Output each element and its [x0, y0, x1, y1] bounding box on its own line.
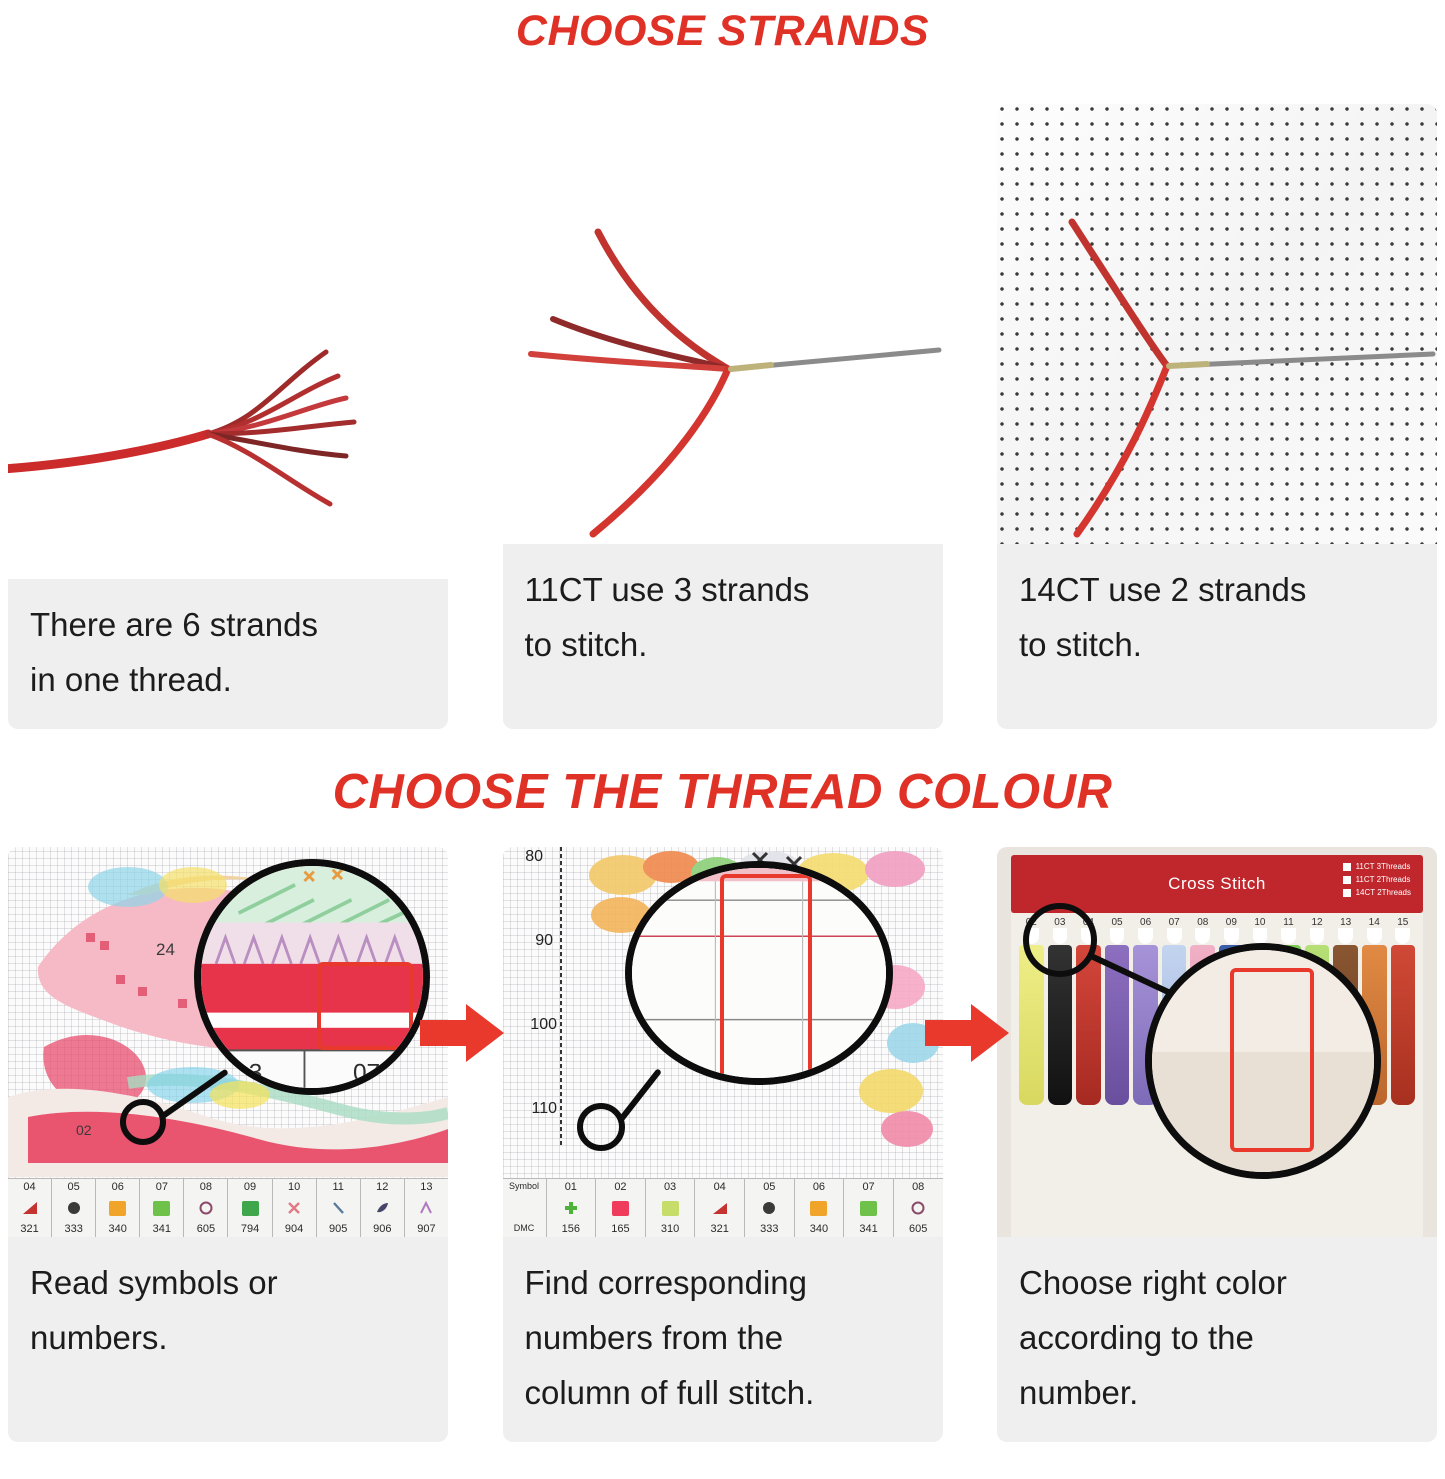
card-choose-color: Cross Stitch 11CT 3Threads 11CT 2Threads… — [997, 847, 1437, 1442]
y-axis-label-90: 90 — [535, 932, 553, 949]
skein-hole — [1138, 928, 1153, 944]
green-swatch-icon — [153, 1201, 170, 1216]
three-strands-needle-illustration — [503, 104, 943, 544]
skein-hole — [1224, 928, 1239, 944]
legend-dmc-cell: 341 — [844, 1221, 894, 1237]
legend-header-cell: 06 — [96, 1179, 140, 1195]
legend-dmc-cell: 310 — [646, 1221, 696, 1237]
caret-symbol-icon — [418, 1200, 434, 1216]
legend-dmc-cell: 165 — [596, 1221, 646, 1237]
legend-symbol-row — [503, 1195, 943, 1221]
pattern-bottom-label: 02 — [76, 1122, 92, 1138]
legend-dmc-cell: 321 — [695, 1221, 745, 1237]
legend-row-label: DMC — [503, 1221, 547, 1237]
skein-hole — [1110, 928, 1125, 944]
caption-six-strands: There are 6 strands in one thread. — [8, 579, 448, 729]
photo-plain-fabric-six-strands — [8, 104, 448, 579]
magnified-column-highlight — [720, 874, 812, 1085]
legend-dmc-cell: 333 — [52, 1221, 96, 1237]
y-axis-label-110: 110 — [531, 1100, 557, 1117]
legend-symbol-cell — [745, 1195, 795, 1221]
skein-number: 14 — [1360, 917, 1389, 928]
skein-hole — [1367, 928, 1382, 944]
checkbox-icon[interactable] — [1343, 876, 1351, 884]
skein-number: 15 — [1389, 917, 1418, 928]
legend-dmc-cell: 906 — [361, 1221, 405, 1237]
legend-header-cell: 08 — [184, 1179, 228, 1195]
legend-dmc-cell: 321 — [8, 1221, 52, 1237]
legend-header-cell: 05 — [745, 1179, 795, 1195]
caption-14ct-two-strands: 14CT use 2 strands to stitch. — [997, 544, 1437, 694]
legend-symbol-cell — [596, 1195, 646, 1221]
pack-checkbox-item[interactable]: 11CT 3Threads — [1343, 862, 1411, 871]
skein-number: 05 — [1103, 917, 1132, 928]
pack-title: Cross Stitch — [1168, 874, 1266, 894]
orange-swatch-icon — [810, 1201, 827, 1216]
legend-number-row: 321 333 340 341 605 794 904 905 906 907 — [8, 1221, 448, 1237]
dark-green-swatch-icon — [242, 1201, 259, 1216]
legend-dmc-cell: 904 — [273, 1221, 317, 1237]
orange-swatch-icon — [109, 1201, 126, 1216]
legend-symbol-cell — [646, 1195, 696, 1221]
two-strands-needle-illustration — [997, 104, 1437, 544]
skein-hole — [1195, 928, 1210, 944]
photo-floss-pack: Cross Stitch 11CT 3Threads 11CT 2Threads… — [997, 847, 1437, 1237]
photo-stitched-canvas: 24 02 — [8, 847, 448, 1237]
legend-symbol-cell — [52, 1195, 96, 1221]
skein-hole — [1310, 928, 1325, 944]
legend-symbol-cell — [273, 1195, 317, 1221]
legend-symbol-cell — [228, 1195, 272, 1221]
legend-header-cell: 03 — [646, 1179, 696, 1195]
y-axis-label-80: 80 — [525, 848, 543, 865]
legend-symbol-cell — [8, 1195, 52, 1221]
card-read-symbols: 24 02 — [8, 847, 448, 1442]
magnifier-lens-skeins: 01 02 03 — [1145, 943, 1381, 1179]
magnifier-lens-symbols: 3 07 — [194, 859, 430, 1095]
legend-symbol-cell — [894, 1195, 943, 1221]
skein-number: 11 — [1274, 917, 1303, 928]
magnifier-red-highlight — [317, 962, 413, 1050]
legend-dmc-cell: 333 — [745, 1221, 795, 1237]
cross-symbol-icon — [286, 1200, 302, 1216]
legend-header-cell: 07 — [140, 1179, 184, 1195]
skein-hole — [1167, 928, 1182, 944]
magnified-skein-highlight — [1230, 968, 1314, 1152]
legend-number-row: DMC 156 165 310 321 333 340 341 605 — [503, 1221, 943, 1237]
legend-symbol-cell — [140, 1195, 184, 1221]
magnifier-focus-circle — [120, 1099, 166, 1145]
legend-symbol-row — [8, 1195, 448, 1221]
legend-dmc-cell: 340 — [96, 1221, 140, 1237]
legend-symbol-cell — [695, 1195, 745, 1221]
legend-header-cell: 04 — [695, 1179, 745, 1195]
legend-dmc-cell: 905 — [317, 1221, 361, 1237]
skein-hole — [1395, 928, 1410, 944]
legend-dmc-cell: 907 — [405, 1221, 448, 1237]
magnifier-focus-circle — [1023, 903, 1097, 977]
caption-11ct-three-strands: 11CT use 3 strands to stitch. — [503, 544, 943, 694]
pack-checkbox-item[interactable]: 14CT 2Threads — [1343, 888, 1411, 897]
legend-symbol-cell — [317, 1195, 361, 1221]
skein-number: 09 — [1217, 917, 1246, 928]
legend-dmc-cell: 794 — [228, 1221, 272, 1237]
legend-header-cell: 01 — [547, 1179, 597, 1195]
checkbox-icon[interactable] — [1343, 863, 1351, 871]
legend-symbol-cell — [96, 1195, 140, 1221]
section-title-choose-strands: CHOOSE STRANDS — [0, 0, 1445, 60]
right-arrow-icon — [420, 1002, 506, 1064]
legend-symbol-cell — [361, 1195, 405, 1221]
triangle-symbol-icon — [21, 1200, 39, 1216]
six-strands-illustration — [8, 104, 448, 579]
lime-swatch-icon — [662, 1201, 679, 1216]
legend-header-cell: 05 — [52, 1179, 96, 1195]
skein-hole — [1338, 928, 1353, 944]
section-title-choose-thread-colour: CHOOSE THE THREAD COLOUR — [0, 757, 1445, 823]
skein-number: 13 — [1331, 917, 1360, 928]
skein-number: 10 — [1246, 917, 1275, 928]
hex-dot-symbol-icon — [66, 1200, 82, 1216]
pack-checkbox-label: 11CT 2Threads — [1356, 875, 1411, 884]
caption-find-numbers: Find corresponding numbers from the colu… — [503, 1237, 943, 1442]
pack-checkbox-label: 11CT 3Threads — [1356, 862, 1411, 871]
pack-checkbox-list: 11CT 3Threads 11CT 2Threads 14CT 2Thread… — [1343, 862, 1411, 901]
arrow-card1-to-card2 — [420, 1002, 506, 1064]
caption-read-symbols: Read symbols or numbers. — [8, 1237, 448, 1387]
leaf-symbol-icon — [374, 1200, 390, 1216]
legend-header-cell: 11 — [317, 1179, 361, 1195]
skein-hole — [1253, 928, 1268, 944]
legend-dmc-cell: 156 — [547, 1221, 597, 1237]
slash-symbol-icon — [330, 1200, 346, 1216]
green-swatch-icon — [860, 1201, 877, 1216]
legend-header-row: Symbol 01 02 03 04 05 06 07 08 — [503, 1179, 943, 1195]
pattern-row-label: 24 — [156, 940, 175, 959]
photo-pattern-chart: 80 90 100 110 — [503, 847, 943, 1237]
legend-header-cell: 09 — [228, 1179, 272, 1195]
legend-header-cell: 13 — [405, 1179, 448, 1195]
legend-header-cell: 04 — [8, 1179, 52, 1195]
skein-hole — [1281, 928, 1296, 944]
skein-floss — [1391, 945, 1416, 1105]
checkbox-icon[interactable] — [1343, 889, 1351, 897]
skein-number: 12 — [1303, 917, 1332, 928]
legend-dmc-cell: 605 — [184, 1221, 228, 1237]
legend-strip-chart: Symbol 01 02 03 04 05 06 07 08 — [503, 1178, 943, 1237]
legend-header-cell: 10 — [273, 1179, 317, 1195]
thread-colour-card-row: 24 02 — [0, 847, 1445, 1442]
legend-header-row: 04 05 06 07 08 09 10 11 12 13 — [8, 1179, 448, 1195]
photo-aida-11ct — [503, 104, 943, 544]
svg-text:3: 3 — [249, 1059, 263, 1086]
legend-symbol-cell — [795, 1195, 845, 1221]
legend-header-cell: 08 — [894, 1179, 943, 1195]
legend-dmc-cell: 341 — [140, 1221, 184, 1237]
legend-header-cell: 12 — [361, 1179, 405, 1195]
plus-symbol-icon — [563, 1200, 579, 1216]
magnifier-lens-numbers: 01 156 02 165 03 310 — [625, 861, 893, 1085]
right-arrow-icon — [925, 1002, 1011, 1064]
magnifier-number-07: 07 — [353, 1059, 380, 1086]
photo-aida-14ct — [997, 104, 1437, 544]
legend-symbol-cell — [844, 1195, 894, 1221]
legend-header-cell: 02 — [596, 1179, 646, 1195]
legend-symbol-cell — [405, 1195, 448, 1221]
circle-outline-symbol-icon — [198, 1200, 214, 1216]
skein-number: 06 — [1131, 917, 1160, 928]
legend-symbol-cell — [184, 1195, 228, 1221]
caption-choose-color: Choose right color according to the numb… — [997, 1237, 1437, 1442]
y-axis-label-100: 100 — [530, 1016, 557, 1033]
pack-checkbox-label: 14CT 2Threads — [1356, 888, 1411, 897]
legend-row-label: Symbol — [503, 1179, 547, 1195]
skein-number: 07 — [1160, 917, 1189, 928]
pink-swatch-icon — [612, 1201, 629, 1216]
hex-dot-symbol-icon — [761, 1200, 777, 1216]
legend-dmc-cell: 340 — [795, 1221, 845, 1237]
card-find-numbers: 80 90 100 110 — [503, 847, 943, 1442]
skein-number: 08 — [1188, 917, 1217, 928]
floss-skein — [1105, 928, 1130, 1105]
legend-strip-canvas: 04 05 06 07 08 09 10 11 12 13 — [8, 1178, 448, 1237]
arrow-card2-to-card3 — [925, 1002, 1011, 1064]
legend-header-cell: 06 — [795, 1179, 845, 1195]
legend-symbol-cell — [547, 1195, 597, 1221]
legend-header-cell: 07 — [844, 1179, 894, 1195]
pack-checkbox-item[interactable]: 11CT 2Threads — [1343, 875, 1411, 884]
floss-skein — [1391, 928, 1416, 1105]
legend-dmc-cell: 605 — [894, 1221, 943, 1237]
circle-outline-symbol-icon — [910, 1200, 926, 1216]
card-11ct-three-strands: 11CT use 3 strands to stitch. — [503, 104, 943, 729]
strands-card-row: There are 6 strands in one thread. 11CT … — [0, 104, 1445, 729]
triangle-symbol-icon — [711, 1200, 729, 1216]
legend-symbol-label — [503, 1195, 547, 1221]
magnifier-focus-circle — [577, 1103, 625, 1151]
card-14ct-two-strands: 14CT use 2 strands to stitch. — [997, 104, 1437, 729]
card-six-strands: There are 6 strands in one thread. — [8, 104, 448, 729]
